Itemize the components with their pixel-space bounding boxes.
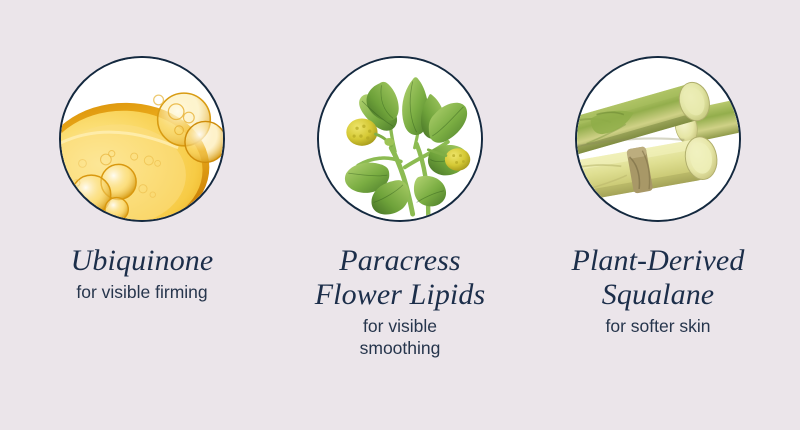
caption-plant-derived-squalane: Plant-Derived Squalane for softer skin xyxy=(535,244,781,338)
medallion-paracress-plant-photo xyxy=(317,56,483,222)
medallion-sugarcane-stalks-photo xyxy=(575,56,741,222)
medallion-oil-bubbles-photo xyxy=(59,56,225,222)
caption-ubiquinone: Ubiquinone for visible firming xyxy=(19,244,265,304)
ingredient-title: Plant-Derived Squalane xyxy=(535,244,781,312)
ingredient-plant-derived-squalane: Plant-Derived Squalane for softer skin xyxy=(529,0,787,338)
ingredient-subtitle: for visible smoothing xyxy=(277,316,523,360)
ingredient-subtitle: for softer skin xyxy=(535,316,781,338)
oil-bubbles-illustration xyxy=(61,58,223,220)
ingredient-paracress-flower-lipids: Paracress Flower Lipids for visible smoo… xyxy=(271,0,529,360)
ingredient-subtitle: for visible firming xyxy=(19,282,265,304)
sugarcane-stalks-illustration xyxy=(577,58,739,220)
ingredient-title: Paracress Flower Lipids xyxy=(277,244,523,312)
ingredient-title: Ubiquinone xyxy=(19,244,265,278)
caption-paracress-flower-lipids: Paracress Flower Lipids for visible smoo… xyxy=(277,244,523,360)
ingredient-ubiquinone: Ubiquinone for visible firming xyxy=(13,0,271,304)
paracress-plant-illustration xyxy=(319,58,481,220)
ingredients-banner: Ubiquinone for visible firming xyxy=(0,0,800,430)
